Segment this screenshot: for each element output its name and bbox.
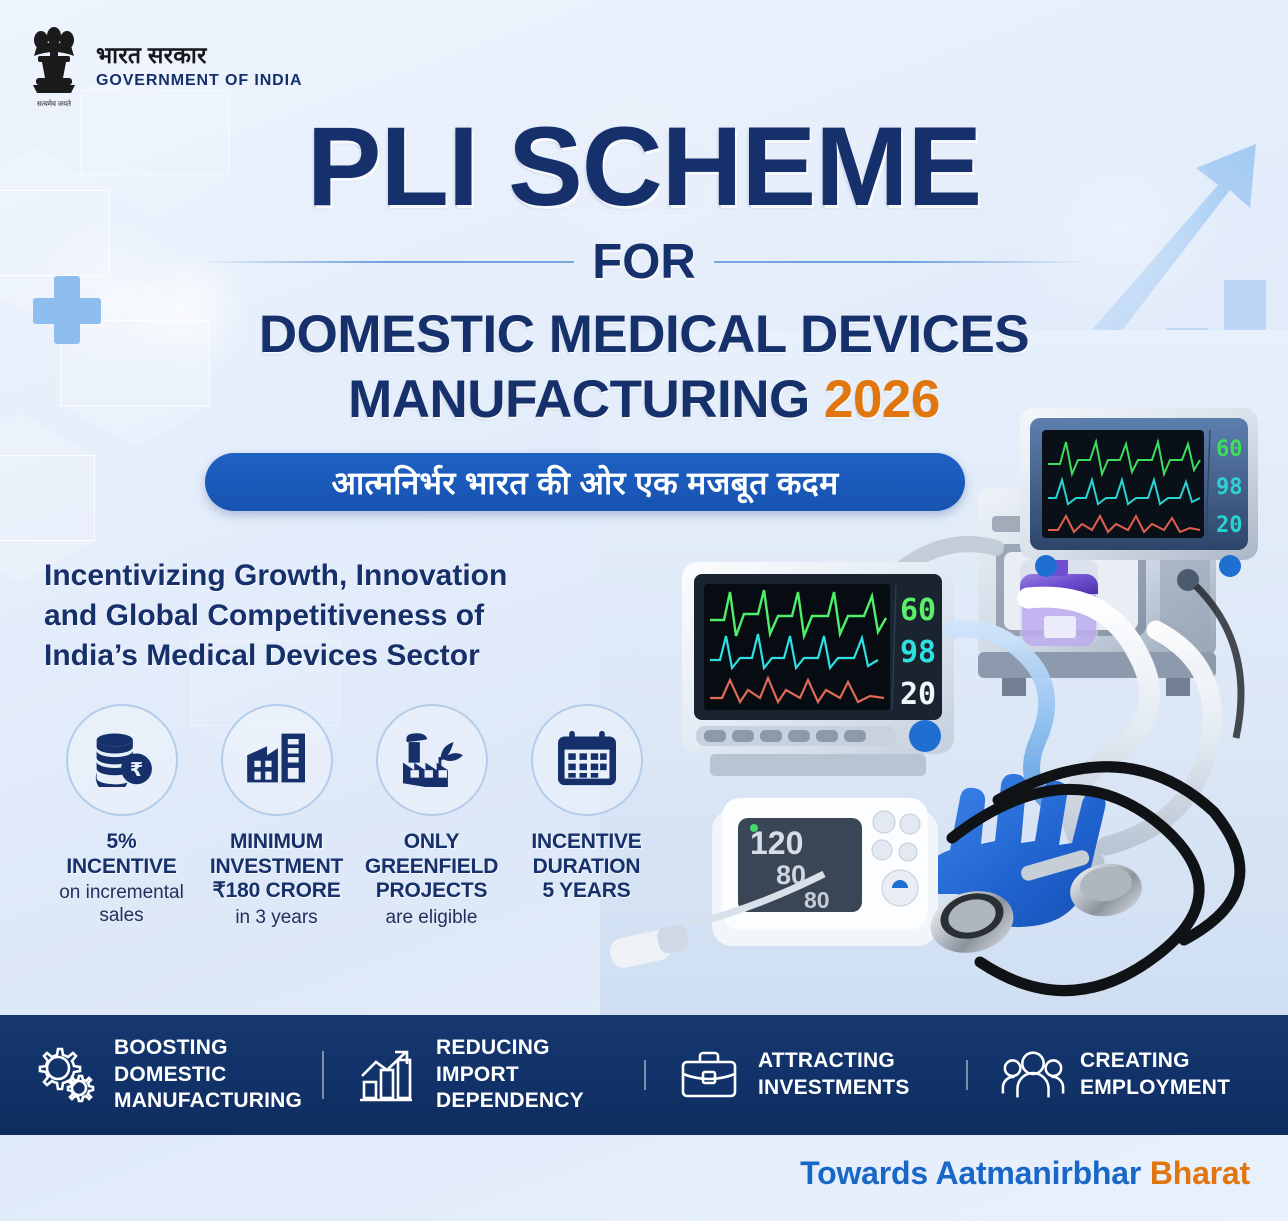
feature-title-line3: ₹180 CRORE <box>199 879 354 904</box>
footer-tagline-part2: Bharat <box>1150 1155 1250 1191</box>
gov-name-hindi: भारत सरकार <box>96 42 302 68</box>
gears-icon <box>34 1044 96 1106</box>
calendar-icon <box>556 729 618 792</box>
feature-title-line1: INCENTIVE <box>509 830 664 855</box>
footer-tagline: Towards Aatmanirbhar Bharat <box>800 1155 1250 1192</box>
feature-note: in 3 years <box>199 907 354 930</box>
coins-rupee-icon: ₹ <box>89 729 155 792</box>
lead-line-2: and Global Competitiveness of <box>44 596 564 636</box>
poster-canvas: 60 98 20 60 98 20 <box>0 0 1288 1221</box>
benefit-label-line2: INVESTMENTS <box>758 1075 910 1102</box>
svg-text:₹: ₹ <box>129 760 142 781</box>
svg-text:60: 60 <box>900 593 936 628</box>
title-subline-2-text: MANUFACTURING <box>348 370 810 429</box>
benefit-attracting-investments: ATTRACTING INVESTMENTS <box>644 1044 966 1106</box>
for-divider-row: FOR <box>0 234 1288 290</box>
feature-title-line2: INCENTIVE <box>44 855 199 880</box>
benefit-reducing-import-dependency: REDUCING IMPORT DEPENDENCY <box>322 1035 644 1116</box>
benefit-label-line1: ATTRACTING <box>758 1048 910 1075</box>
people-group-icon <box>1000 1044 1062 1106</box>
feature-title-line3: 5 YEARS <box>509 879 664 904</box>
hindi-tagline-pill: आत्मनिर्भर भारत की ओर एक मजबूत कदम <box>205 453 965 511</box>
title-subline-2: MANUFACTURING 2026 <box>0 369 1288 430</box>
hindi-tagline-text: आत्मनिर्भर भारत की ओर एक मजबूत कदम <box>331 461 838 504</box>
feature-note: are eligible <box>354 907 509 930</box>
page-title: PLI SCHEME <box>0 112 1288 222</box>
feature-note-line2: sales <box>44 905 199 928</box>
footer-tagline-part1: Towards Aatmanirbhar <box>800 1155 1141 1191</box>
medical-equipment-photo: 60 98 20 60 98 20 <box>600 330 1288 1020</box>
svg-text:20: 20 <box>1216 513 1243 538</box>
feature-icon-circle <box>376 704 488 816</box>
svg-text:80: 80 <box>804 887 830 913</box>
feature-icon-circle <box>531 704 643 816</box>
feature-greenfield: ONLY GREENFIELD PROJECTS are eligible <box>354 704 509 929</box>
lead-paragraph: Incentivizing Growth, Innovation and Glo… <box>44 556 564 676</box>
benefit-label-line1: REDUCING IMPORT <box>436 1035 638 1089</box>
feature-note-line1: are eligible <box>354 907 509 930</box>
benefit-creating-employment: CREATING EMPLOYMENT <box>966 1044 1288 1106</box>
divider-line-left <box>200 261 574 263</box>
benefit-label: CREATING EMPLOYMENT <box>1080 1048 1230 1102</box>
feature-title-line2: GREENFIELD <box>354 855 509 880</box>
divider-line-right <box>714 261 1088 263</box>
feature-incentive-duration: INCENTIVE DURATION 5 YEARS <box>509 704 664 929</box>
feature-icon-circle <box>221 704 333 816</box>
feature-title-line2: INVESTMENT <box>199 855 354 880</box>
svg-text:98: 98 <box>900 635 936 670</box>
factory-buildings-icon <box>245 730 309 791</box>
feature-title: INCENTIVE DURATION 5 YEARS <box>509 830 664 904</box>
feature-list: ₹ 5% INCENTIVE on incremental sales <box>44 704 664 929</box>
benefit-label-line2: DEPENDENCY <box>436 1088 638 1115</box>
lead-line-1: Incentivizing Growth, Innovation <box>44 556 564 596</box>
benefits-band: BOOSTING DOMESTIC MANUFACTURING REDUCING… <box>0 1015 1288 1135</box>
benefit-label-line2: EMPLOYMENT <box>1080 1075 1230 1102</box>
feature-title-line1: 5% <box>44 830 199 855</box>
svg-text:80: 80 <box>776 860 806 890</box>
benefit-label-line1: CREATING <box>1080 1048 1230 1075</box>
benefit-label-line2: DOMESTIC <box>114 1062 302 1089</box>
title-subline-1: DOMESTIC MEDICAL DEVICES <box>0 304 1288 365</box>
svg-text:20: 20 <box>900 677 936 712</box>
benefit-label: BOOSTING DOMESTIC MANUFACTURING <box>114 1035 302 1116</box>
feature-title: 5% INCENTIVE <box>44 830 199 879</box>
feature-note: on incremental sales <box>44 882 199 928</box>
briefcase-icon <box>678 1044 740 1106</box>
feature-icon-circle: ₹ <box>66 704 178 816</box>
benefit-label-line1: BOOSTING <box>114 1035 302 1062</box>
lead-line-3: India’s Medical Devices Sector <box>44 636 564 676</box>
feature-title-line1: ONLY <box>354 830 509 855</box>
feature-title-line2: DURATION <box>509 855 664 880</box>
feature-note-line1: in 3 years <box>199 907 354 930</box>
feature-note-line1: on incremental <box>44 882 199 905</box>
title-for-label: FOR <box>592 234 695 290</box>
emblem-motto: सत्यमेव जयते <box>37 99 72 108</box>
benefit-boosting-domestic-manufacturing: BOOSTING DOMESTIC MANUFACTURING <box>0 1035 322 1116</box>
feature-incentive: ₹ 5% INCENTIVE on incremental sales <box>44 704 199 929</box>
feature-title: MINIMUM INVESTMENT ₹180 CRORE <box>199 830 354 904</box>
feature-title-line3: PROJECTS <box>354 879 509 904</box>
green-factory-icon <box>399 729 465 792</box>
gov-name-english: GOVERNMENT OF INDIA <box>96 72 302 90</box>
svg-text:60: 60 <box>1216 437 1243 462</box>
benefit-label: ATTRACTING INVESTMENTS <box>758 1048 910 1102</box>
title-block: PLI SCHEME FOR DOMESTIC MEDICAL DEVICES … <box>0 112 1288 430</box>
benefit-label: REDUCING IMPORT DEPENDENCY <box>436 1035 638 1116</box>
benefit-label-line3: MANUFACTURING <box>114 1088 302 1115</box>
growth-chart-icon <box>356 1044 418 1106</box>
svg-text:98: 98 <box>1216 475 1243 500</box>
ashoka-emblem-icon: सत्यमेव जयते <box>24 22 84 110</box>
feature-minimum-investment: MINIMUM INVESTMENT ₹180 CRORE in 3 years <box>199 704 354 929</box>
feature-title: ONLY GREENFIELD PROJECTS <box>354 830 509 904</box>
svg-text:120: 120 <box>750 825 803 861</box>
title-year: 2026 <box>824 370 940 429</box>
feature-title-line1: MINIMUM <box>199 830 354 855</box>
government-header: सत्यमेव जयते भारत सरकार GOVERNMENT OF IN… <box>24 22 302 110</box>
